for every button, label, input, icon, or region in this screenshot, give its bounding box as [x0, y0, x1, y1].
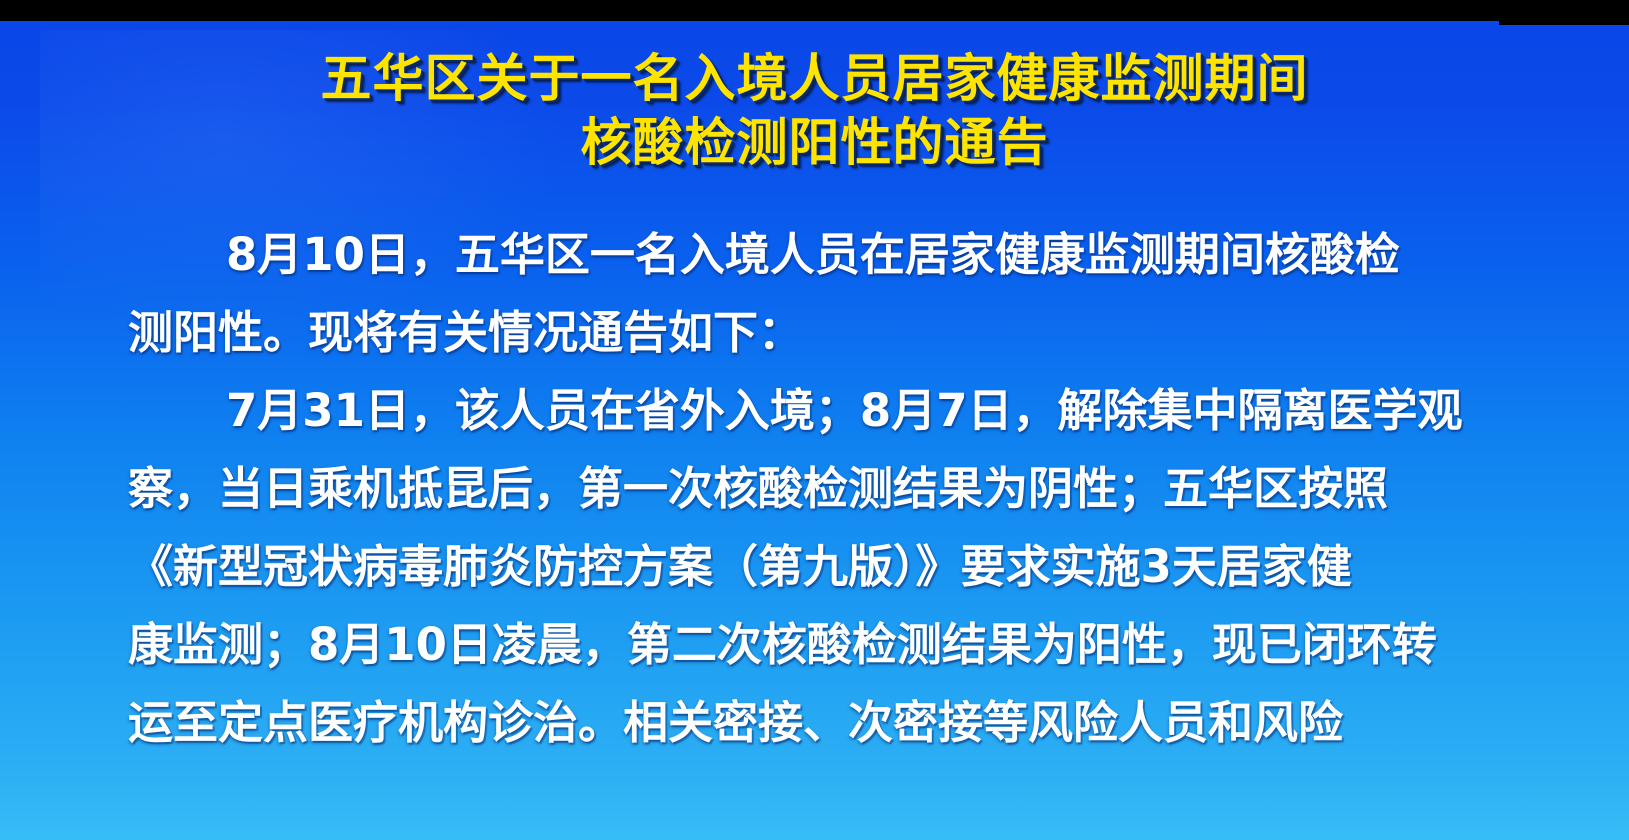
body-paragraph-1-line-1: 8月10日，五华区一名入境人员在居家健康监测期间核酸检 — [128, 216, 1508, 294]
body-paragraph-1-line-2: 测阳性。现将有关情况通告如下： — [128, 294, 1508, 372]
letterbox-corner-notch — [1499, 0, 1629, 25]
letterbox-bar-top — [0, 0, 1629, 21]
body-paragraph-2-line-5: 运至定点医疗机构诊治。相关密接、次密接等风险人员和风险 — [128, 684, 1508, 762]
broadcast-screen: 五华区关于一名入境人员居家健康监测期间 核酸检测阳性的通告 8月10日，五华区一… — [0, 0, 1629, 840]
announcement-content: 五华区关于一名入境人员居家健康监测期间 核酸检测阳性的通告 8月10日，五华区一… — [0, 20, 1629, 840]
title-line-2: 核酸检测阳性的通告 — [0, 112, 1629, 176]
announcement-title: 五华区关于一名入境人员居家健康监测期间 核酸检测阳性的通告 — [0, 48, 1629, 176]
body-paragraph-2-line-2: 察，当日乘机抵昆后，第一次核酸检测结果为阴性；五华区按照 — [128, 450, 1508, 528]
announcement-body: 8月10日，五华区一名入境人员在居家健康监测期间核酸检 测阳性。现将有关情况通告… — [128, 216, 1508, 762]
body-paragraph-2-line-3: 《新型冠状病毒肺炎防控方案（第九版）》要求实施3天居家健 — [128, 528, 1508, 606]
title-line-1: 五华区关于一名入境人员居家健康监测期间 — [0, 48, 1629, 112]
body-paragraph-2-line-1: 7月31日，该人员在省外入境；8月7日，解除集中隔离医学观 — [128, 372, 1508, 450]
body-paragraph-2-line-4: 康监测；8月10日凌晨，第二次核酸检测结果为阳性，现已闭环转 — [128, 606, 1508, 684]
